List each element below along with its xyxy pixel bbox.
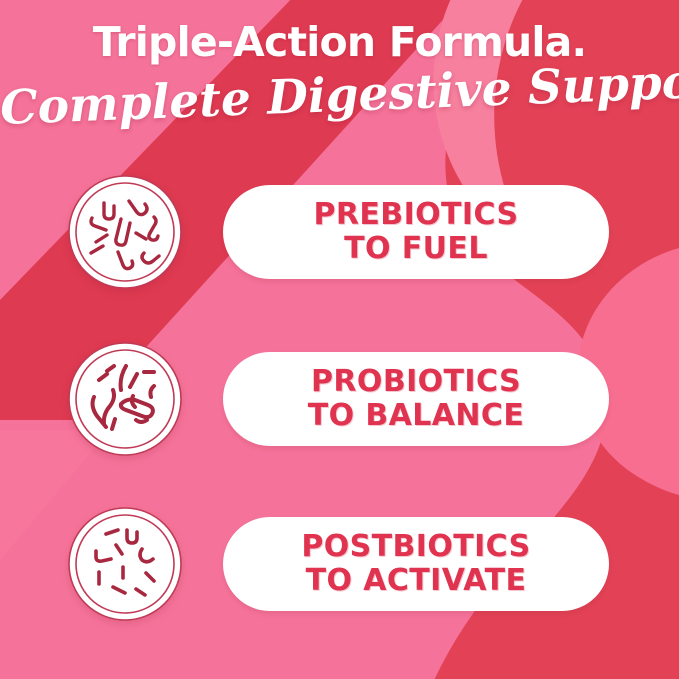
benefit-label-line2: TO ACTIVATE: [306, 564, 527, 598]
petri-dish-probiotics-icon: [66, 340, 184, 458]
benefit-label-line2: TO BALANCE: [308, 399, 524, 433]
benefit-label-line1: POSTBIOTICS: [301, 530, 530, 564]
benefit-pill[interactable]: POSTBIOTICS TO ACTIVATE: [223, 517, 609, 611]
benefit-row: POSTBIOTICS TO ACTIVATE: [0, 505, 679, 623]
benefit-label-line2: TO FUEL: [344, 232, 488, 266]
petri-dish-prebiotics-icon: [66, 173, 184, 291]
product-benefits-poster: Triple-Action Formula. Complete Digestiv…: [0, 0, 679, 679]
benefit-label-line1: PROBIOTICS: [311, 365, 521, 399]
benefit-row: PROBIOTICS TO BALANCE: [0, 340, 679, 458]
benefit-pill[interactable]: PREBIOTICS TO FUEL: [223, 185, 609, 279]
petri-dish-postbiotics-icon: [66, 505, 184, 623]
benefit-pill[interactable]: PROBIOTICS TO BALANCE: [223, 352, 609, 446]
benefit-label-line1: PREBIOTICS: [314, 198, 519, 232]
benefit-rows: PREBIOTICS TO FUEL: [0, 0, 679, 679]
benefit-row: PREBIOTICS TO FUEL: [0, 173, 679, 291]
